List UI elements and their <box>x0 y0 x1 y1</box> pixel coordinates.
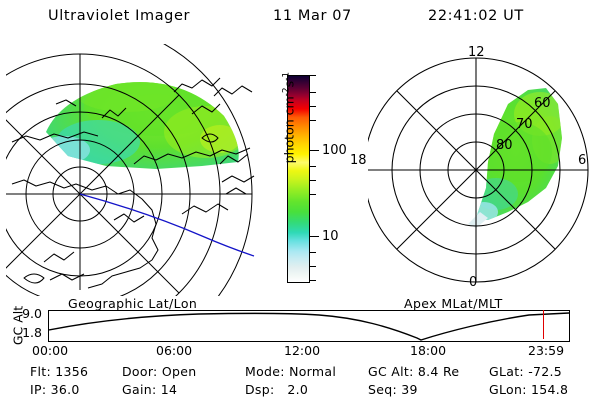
colorbar-panel[interactable]: 100 10 photon cm-2s-1 <box>262 44 367 296</box>
status-mode: Mode: Normal <box>245 366 336 379</box>
apex-polar-panel[interactable]: 12 18 6 0 60 70 80 <box>368 42 596 298</box>
orbit-x-tick-0600: 06:00 <box>156 345 192 358</box>
geographic-graticule <box>6 44 252 296</box>
colorbar-tick-label-100: 100 <box>322 144 347 157</box>
geographic-map-svg <box>6 44 258 296</box>
colorbar-tick-label-10: 10 <box>322 230 339 243</box>
orbit-x-tick-0000: 00:00 <box>32 345 68 358</box>
current-time-marker <box>543 310 544 339</box>
colorbar-axis-title: photon cm-2s-1 <box>281 43 296 193</box>
status-dsp: Dsp: 2.0 <box>245 384 308 397</box>
mlat-label-70: 70 <box>516 118 533 131</box>
status-flight-label: Flt: <box>30 364 51 379</box>
status-gain-label: Gain: <box>122 382 156 397</box>
mlat-label-80: 80 <box>496 139 513 152</box>
status-flight-value: 1356 <box>55 364 88 379</box>
status-gain: Gain: 14 <box>122 384 177 397</box>
observation-time: 22:41:02 UT <box>428 8 524 24</box>
orbit-plot-frame <box>48 310 570 342</box>
status-door: Door: Open <box>122 366 196 379</box>
colorbar-unit-main: photon cm <box>282 96 297 163</box>
status-glat: GLat: -72.5 <box>489 366 562 379</box>
status-seq-label: Seq: <box>368 382 397 397</box>
mlt-label-6: 6 <box>578 154 586 167</box>
status-ip-label: IP: <box>30 382 46 397</box>
mlt-label-18: 18 <box>350 154 367 167</box>
orbit-x-tick-2359: 23:59 <box>528 345 564 358</box>
status-door-label: Door: <box>122 364 158 379</box>
orbit-altitude-curve <box>49 311 569 341</box>
orbit-x-tick-1200: 12:00 <box>284 345 320 358</box>
status-ip: IP: 36.0 <box>30 384 80 397</box>
status-gain-value: 14 <box>161 382 178 397</box>
status-glon-label: GLon: <box>489 382 527 397</box>
orbit-y-tick-low: 1.8 <box>12 327 42 340</box>
mlt-label-12: 12 <box>468 46 485 59</box>
status-glat-label: GLat: <box>489 364 524 379</box>
status-gc-alt-label: GC Alt: <box>368 364 414 379</box>
status-gc-alt-value: 8.4 Re <box>418 364 459 379</box>
instrument-title: Ultraviolet Imager <box>48 8 190 24</box>
status-mode-label: Mode: <box>245 364 285 379</box>
status-glon: GLon: 154.8 <box>489 384 568 397</box>
header-bar: Ultraviolet Imager 11 Mar 07 22:41:02 UT <box>0 6 600 30</box>
status-seq-value: 39 <box>401 382 418 397</box>
colorbar-unit-mid: s <box>282 81 297 88</box>
status-flight: Flt: 1356 <box>30 366 88 379</box>
colorbar-unit-exp2: -1 <box>281 72 291 81</box>
status-dsp-label: Dsp: <box>245 382 274 397</box>
status-ip-value: 36.0 <box>51 382 80 397</box>
orbit-x-tick-1800: 18:00 <box>410 345 446 358</box>
status-glon-value: 154.8 <box>531 382 568 397</box>
orbit-altitude-panel[interactable]: GC Alt 9.0 1.8 00:00 06:00 12:00 18:00 2… <box>0 306 600 356</box>
mlt-label-0: 0 <box>469 276 477 289</box>
colorbar-unit-exp1: -2 <box>281 87 291 96</box>
observation-date: 11 Mar 07 <box>273 8 352 24</box>
status-gc-alt: GC Alt: 8.4 Re <box>368 366 459 379</box>
terminator-line <box>80 194 254 256</box>
aurora-oval-patch <box>463 78 573 233</box>
geographic-map-panel[interactable] <box>6 44 258 296</box>
status-seq: Seq: 39 <box>368 384 418 397</box>
mlat-label-60: 60 <box>534 97 551 110</box>
apex-polar-grid <box>368 58 588 282</box>
status-dsp-value: 2.0 <box>287 382 308 397</box>
status-door-value: Open <box>162 364 197 379</box>
status-mode-value: Normal <box>289 364 336 379</box>
status-glat-value: -72.5 <box>528 364 562 379</box>
status-bar: Flt: 1356 Door: Open Mode: Normal GC Alt… <box>0 362 600 400</box>
apex-polar-svg <box>368 42 596 298</box>
uv-imager-display: Ultraviolet Imager 11 Mar 07 22:41:02 UT <box>0 0 600 400</box>
orbit-y-tick-high: 9.0 <box>12 308 42 321</box>
